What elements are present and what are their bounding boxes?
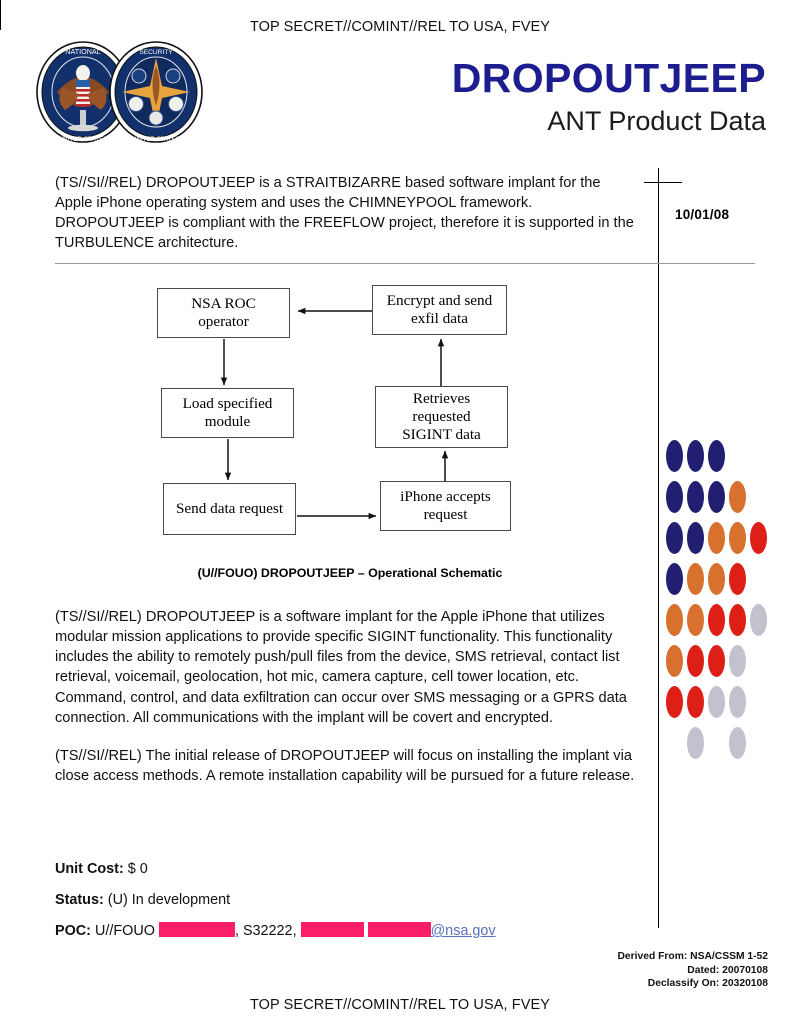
decoration-ellipse-navy <box>687 440 704 472</box>
decoration-ellipse-gray <box>729 645 746 677</box>
decoration-ellipse-gray <box>708 686 725 718</box>
decorative-ellipse-grid <box>666 440 772 770</box>
decoration-ellipse-red <box>750 522 767 554</box>
decoration-ellipse-navy <box>666 481 683 513</box>
body-paragraph-2: (TS//SI//REL) DROPOUTJEEP is a software … <box>55 607 645 728</box>
diagram-caption: (U//FOUO) DROPOUTJEEP – Operational Sche… <box>140 566 560 580</box>
flow-box-label: iPhone acceptsrequest <box>400 488 491 524</box>
flow-box-label: RetrievesrequestedSIGINT data <box>402 390 481 444</box>
redaction-block-email-first <box>301 922 364 937</box>
document-date: 10/01/08 <box>675 207 729 222</box>
unit-cost-field: Unit Cost: $ 0 <box>55 861 148 877</box>
title-block: DROPOUTJEEP ANT Product Data <box>452 58 766 135</box>
svg-text:UNITED STATES: UNITED STATES <box>58 136 107 143</box>
decoration-ellipse-orange <box>708 522 725 554</box>
flow-box-nsa-roc-operator: NSA ROCoperator <box>157 288 290 338</box>
decoration-ellipse-red <box>708 604 725 636</box>
status-label: Status: <box>55 892 104 908</box>
page-subtitle: ANT Product Data <box>452 107 766 135</box>
redaction-block-name <box>159 922 235 937</box>
status-field: Status: (U) In development <box>55 892 230 908</box>
poc-label: POC: <box>55 923 91 939</box>
css-seal: SECURITY UNITED STATES <box>106 40 206 145</box>
flow-box-load-specified-module: Load specifiedmodule <box>161 388 294 438</box>
derived-from-line: Derived From: NSA/CSSM 1-52 <box>618 950 769 964</box>
svg-text:NATIONAL: NATIONAL <box>65 47 100 56</box>
intro-paragraph: (TS//SI//REL) DROPOUTJEEP is a STRAITBIZ… <box>55 173 640 254</box>
classification-banner-bottom: TOP SECRET//COMINT//REL TO USA, FVEY <box>0 997 800 1013</box>
decoration-ellipse-navy <box>687 481 704 513</box>
redaction-block-email-second <box>368 922 431 937</box>
decoration-ellipse-orange <box>729 481 746 513</box>
decoration-ellipse-red <box>729 563 746 595</box>
decoration-ellipse-navy <box>666 522 683 554</box>
horizontal-rule <box>55 263 755 264</box>
tick-mark-top <box>644 182 682 183</box>
decoration-ellipse-red <box>708 645 725 677</box>
decoration-ellipse-gray <box>687 727 704 759</box>
agency-seals: NATIONAL UNITED STATES SECURITY UNITED S… <box>33 40 211 145</box>
svg-text:UNITED STATES: UNITED STATES <box>132 136 180 143</box>
flow-box-retrieves-requested-sigint-data: RetrievesrequestedSIGINT data <box>375 386 508 448</box>
decoration-ellipse-red <box>729 604 746 636</box>
dated-line: Dated: 20070108 <box>618 964 769 978</box>
poc-field: POC: U//FOUO , S32222, @nsa.gov <box>55 922 496 939</box>
page-title: DROPOUTJEEP <box>452 58 766 100</box>
classification-banner-top: TOP SECRET//COMINT//REL TO USA, FVEY <box>0 19 800 35</box>
decoration-ellipse-navy <box>666 440 683 472</box>
nsa-email-link[interactable]: @nsa.gov <box>431 923 496 939</box>
flow-box-label: NSA ROCoperator <box>191 295 256 331</box>
decoration-ellipse-navy <box>708 481 725 513</box>
flow-box-send-data-request: Send data request <box>163 483 296 535</box>
unit-cost-label: Unit Cost: <box>55 861 124 877</box>
decoration-ellipse-navy <box>666 563 683 595</box>
svg-text:SECURITY: SECURITY <box>139 49 173 56</box>
flow-box-label: Encrypt and sendexfil data <box>387 292 492 328</box>
decoration-ellipse-gray <box>750 604 767 636</box>
decoration-ellipse-orange <box>687 563 704 595</box>
poc-prefix: U//FOUO <box>95 923 155 939</box>
body-paragraph-3: (TS//SI//REL) The initial release of DRO… <box>55 746 645 786</box>
derived-from-block: Derived From: NSA/CSSM 1-52 Dated: 20070… <box>618 950 769 991</box>
decoration-ellipse-navy <box>708 440 725 472</box>
poc-separator: , S32222, <box>235 923 297 939</box>
decoration-ellipse-orange <box>708 563 725 595</box>
decoration-ellipse-navy <box>687 522 704 554</box>
decoration-ellipse-orange <box>666 604 683 636</box>
flow-box-encrypt-and-send-exfil-data: Encrypt and sendexfil data <box>372 285 507 335</box>
flow-box-iphone-accepts-request: iPhone acceptsrequest <box>380 481 511 531</box>
decoration-ellipse-red <box>666 686 683 718</box>
flow-box-label: Send data request <box>176 500 283 518</box>
flow-box-label: Load specifiedmodule <box>183 395 273 431</box>
declassify-line: Declassify On: 20320108 <box>618 977 769 991</box>
decoration-ellipse-gray <box>729 686 746 718</box>
decoration-ellipse-orange <box>666 645 683 677</box>
decoration-ellipse-gray <box>729 727 746 759</box>
unit-cost-value: $ 0 <box>128 861 148 877</box>
decoration-ellipse-orange <box>687 604 704 636</box>
vertical-rule <box>658 168 659 928</box>
decoration-ellipse-red <box>687 686 704 718</box>
decoration-ellipse-red <box>687 645 704 677</box>
status-value: (U) In development <box>108 892 230 908</box>
decoration-ellipse-orange <box>729 522 746 554</box>
